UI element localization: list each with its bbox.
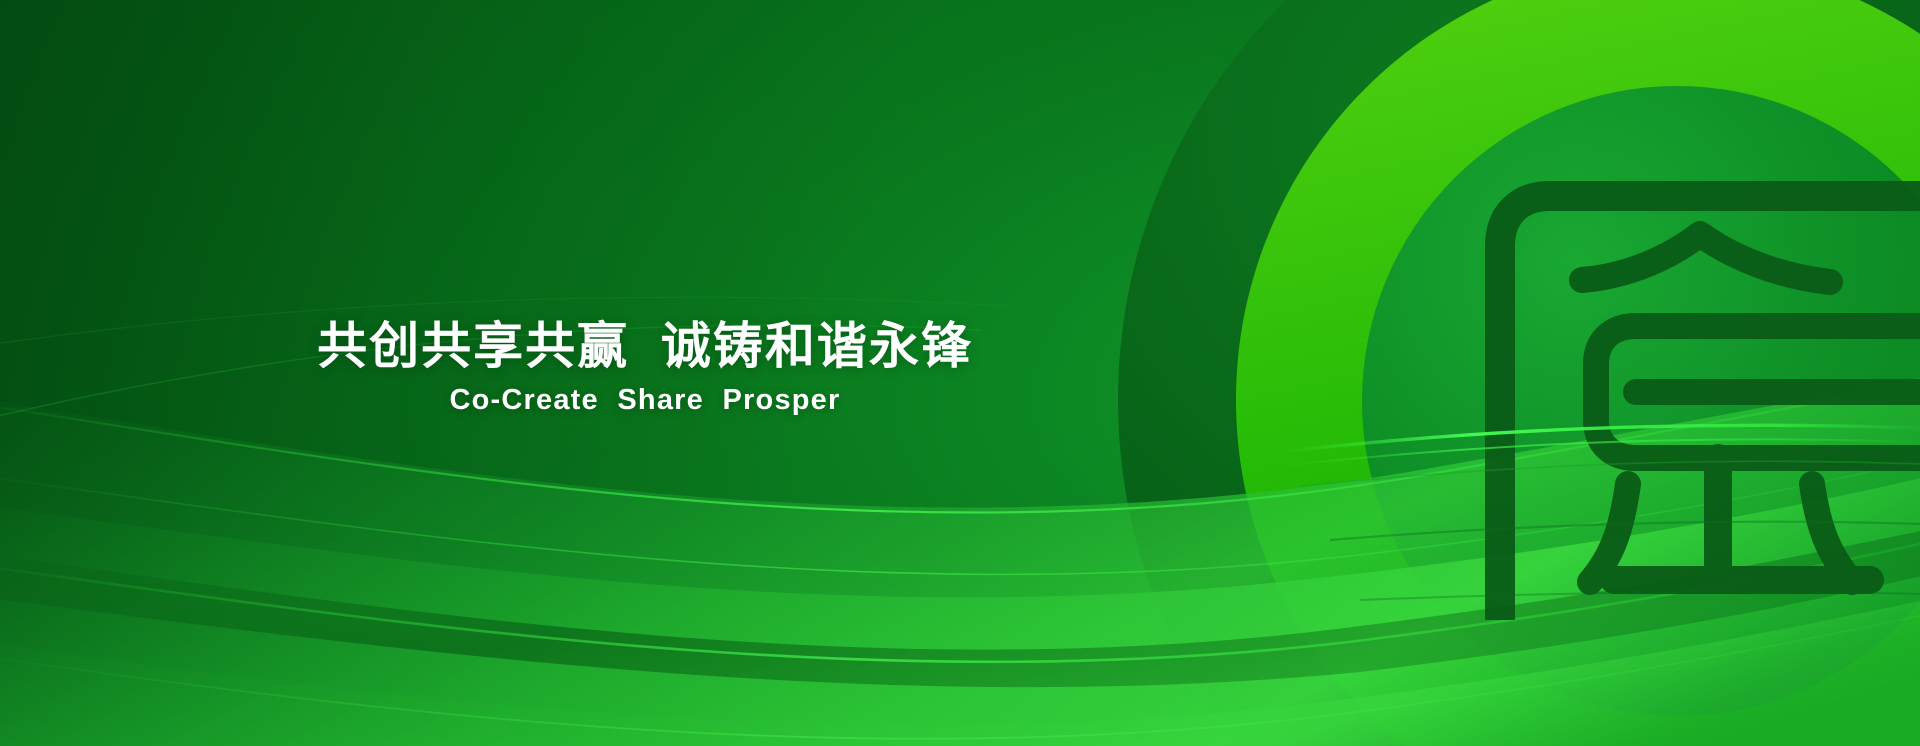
headline-block: 共创共享共赢 诚铸和谐永锋 Co-Create Share Prosper	[0, 318, 1290, 417]
page-subtitle: Co-Create Share Prosper	[0, 385, 1290, 417]
page-title: 共创共享共赢 诚铸和谐永锋	[0, 318, 1290, 374]
banner-root: 共创共享共赢 诚铸和谐永锋 Co-Create Share Prosper	[0, 0, 1920, 746]
